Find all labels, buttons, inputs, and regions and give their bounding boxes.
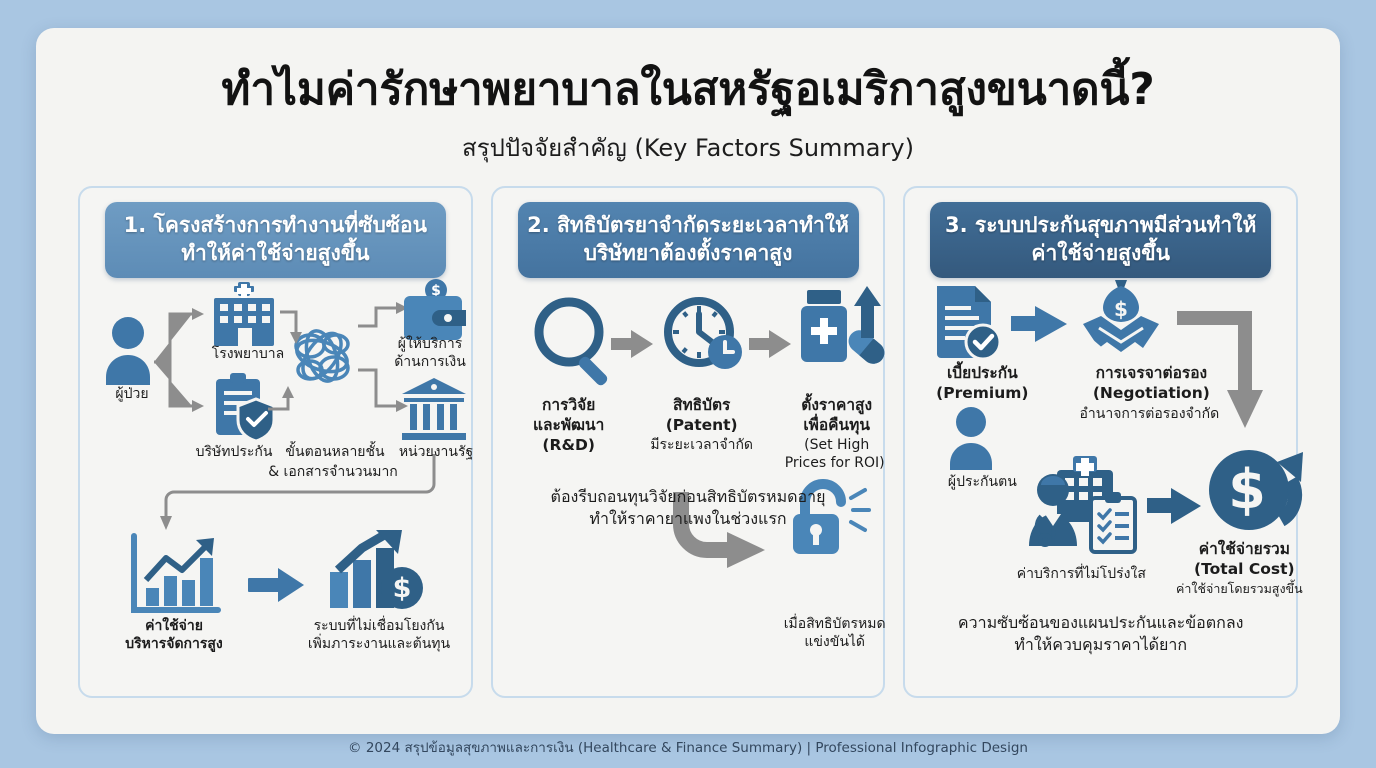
doctor-clipboard-icon (1029, 456, 1135, 552)
wallet-icon: $ (404, 279, 466, 340)
panel-3-note-line-1: ความซับซ้อนของแผนประกันและข้อตกลง (915, 612, 1286, 634)
label-financial-provider-2: ด้านการเงิน (380, 354, 480, 371)
clock-icon (668, 301, 742, 369)
svg-text:$: $ (393, 573, 412, 604)
panel-1-body: $ (90, 278, 461, 686)
panel-3-note-line-2: ทำให้ควบคุมราคาได้ยาก (915, 634, 1286, 656)
label-insurer: บริษัทประกัน (186, 444, 282, 461)
arrow-head-icon (192, 400, 204, 412)
label-unlock-2: แข่งขันได้ (765, 634, 905, 651)
hospital-to-network-arrow (280, 312, 296, 334)
bank-icon (402, 378, 466, 440)
label-rd-2: และพัฒนา (507, 416, 631, 435)
label-negotiation-2: (Negotiation) (1051, 384, 1251, 403)
panel-2-note-line-2: ทำให้ราคายาแพงในช่วงแรก (503, 508, 874, 530)
bar-chart-dollar-icon: $ (330, 530, 423, 609)
document-check-icon (937, 286, 1000, 359)
panel-1-heading: 1. โครงสร้างการทำงานที่ซับซ้อนทำให้ค่าใช… (105, 202, 446, 278)
label-rd-3: (R&D) (517, 436, 621, 455)
arrow-head-icon (160, 516, 172, 530)
label-negotiation-3: อำนาจการต่อรองจำกัด (1041, 406, 1257, 423)
arrow-head-icon (282, 386, 294, 398)
label-rd-1: การวิจัย (513, 396, 625, 415)
panel-2-body: การวิจัย และพัฒนา (R&D) สิทธิบัตร (Paten… (503, 278, 874, 686)
label-total-cost-3: ค่าใช้จ่ายโดยรวมสูงขึ้น (1161, 581, 1317, 596)
magnifier-icon (539, 302, 609, 387)
arrow-up-icon (854, 286, 881, 338)
label-disconnected-1: ระบบที่ไม่เชื่อมโยงกัน (274, 618, 484, 635)
bar-chart-growth-icon (134, 536, 218, 610)
handshake-money-icon: $ (1083, 280, 1159, 352)
arrow-right-blue-icon (1147, 488, 1201, 524)
label-price-3: (Set High (775, 437, 899, 454)
label-disconnected-2: เพิ่มภาระงานและต้นทุน (274, 636, 484, 653)
panel-1-complex-structure[interactable]: 1. โครงสร้างการทำงานที่ซับซ้อนทำให้ค่าใช… (78, 186, 473, 698)
panels-container: 1. โครงสร้างการทำงานที่ซับซ้อนทำให้ค่าใช… (78, 186, 1298, 698)
tangle-network-icon (293, 327, 351, 386)
label-steps-2: & เอกสารจำนวนมาก (238, 464, 428, 481)
dollar-circle-up-icon: $ (1209, 450, 1303, 530)
label-insured: ผู้ประกันตน (917, 474, 1047, 491)
panel-2-heading: 2. สิทธิบัตรยาจำกัดระยะเวลาทำให้บริษัทยา… (518, 202, 859, 278)
panel-2-drug-patents[interactable]: 2. สิทธิบัตรยาจำกัดระยะเวลาทำให้บริษัทยา… (491, 186, 886, 698)
label-financial-provider-1: ผู้ให้บริการ (380, 336, 480, 353)
label-premium-1: เบี้ยประกัน (921, 364, 1043, 383)
label-opaque-fees: ค่าบริการที่ไม่โปร่งใส (993, 566, 1169, 583)
label-price-4: Prices for ROI) (765, 455, 905, 472)
label-unlock-1: เมื่อสิทธิบัตรหมด (765, 616, 905, 633)
clipboard-shield-icon (216, 373, 274, 441)
panel-3-body: $ (915, 278, 1286, 686)
label-government: หน่วยงานรัฐ (386, 444, 486, 461)
label-premium-2: (Premium) (917, 384, 1047, 403)
label-total-cost-1: ค่าใช้จ่ายรวม (1173, 540, 1315, 559)
label-hospital: โรงพยาบาล (198, 346, 298, 363)
arrow-right-blue-icon (1011, 306, 1067, 342)
page-subtitle: สรุปปัจจัยสำคัญ (Key Factors Summary) (36, 128, 1340, 167)
panel-2-diagram (503, 286, 903, 666)
arrow-right-grey-icon (611, 330, 653, 358)
arrow-head-icon (192, 308, 204, 320)
label-total-cost-2: (Total Cost) (1173, 560, 1315, 579)
label-price-2: เพื่อคืนทุน (775, 416, 899, 435)
label-patient: ผู้ป่วย (92, 386, 172, 403)
svg-text:$: $ (1229, 458, 1267, 521)
label-price-1: ตั้งราคาสูง (775, 396, 899, 415)
arrow-right-grey-icon (749, 330, 791, 358)
label-admin-cost-2: บริหารจัดการสูง (96, 636, 252, 653)
infographic-card: ทำไมค่ารักษาพยาบาลในสหรัฐอเมริกาสูงขนาดน… (36, 28, 1340, 734)
panel-3-heading: 3. ระบบประกันสุขภาพมีส่วนทำให้ค่าใช้จ่าย… (930, 202, 1271, 278)
panel-3-insurance-system[interactable]: 3. ระบบประกันสุขภาพมีส่วนทำให้ค่าใช้จ่าย… (903, 186, 1298, 698)
label-negotiation-1: การเจรจาต่อรอง (1051, 364, 1251, 383)
pill-bottle-icon (801, 286, 889, 368)
panel-2-note-line-1: ต้องรีบถอนทุนวิจัยก่อนสิทธิบัตรหมดอายุ (503, 486, 874, 508)
arrow-right-blue-icon (248, 568, 304, 602)
hospital-icon (214, 280, 274, 346)
person-icon (106, 317, 150, 385)
label-patent-2: (Patent) (643, 416, 761, 435)
footer-credit: © 2024 สรุปข้อมูลสุขภาพและการเงิน (Healt… (0, 736, 1376, 758)
page-title: ทำไมค่ารักษาพยาบาลในสหรัฐอเมริกาสูงขนาดน… (36, 66, 1340, 114)
label-patent-1: สิทธิบัตร (643, 396, 761, 415)
label-patent-3: มีระยะเวลาจำกัด (633, 437, 771, 454)
label-admin-cost-1: ค่าใช้จ่าย (106, 618, 242, 635)
svg-text:$: $ (1114, 297, 1128, 321)
arrow-head-icon (727, 532, 765, 568)
person-icon (950, 407, 992, 470)
label-steps-1: ขั้นตอนหลายชั้น (280, 444, 390, 461)
